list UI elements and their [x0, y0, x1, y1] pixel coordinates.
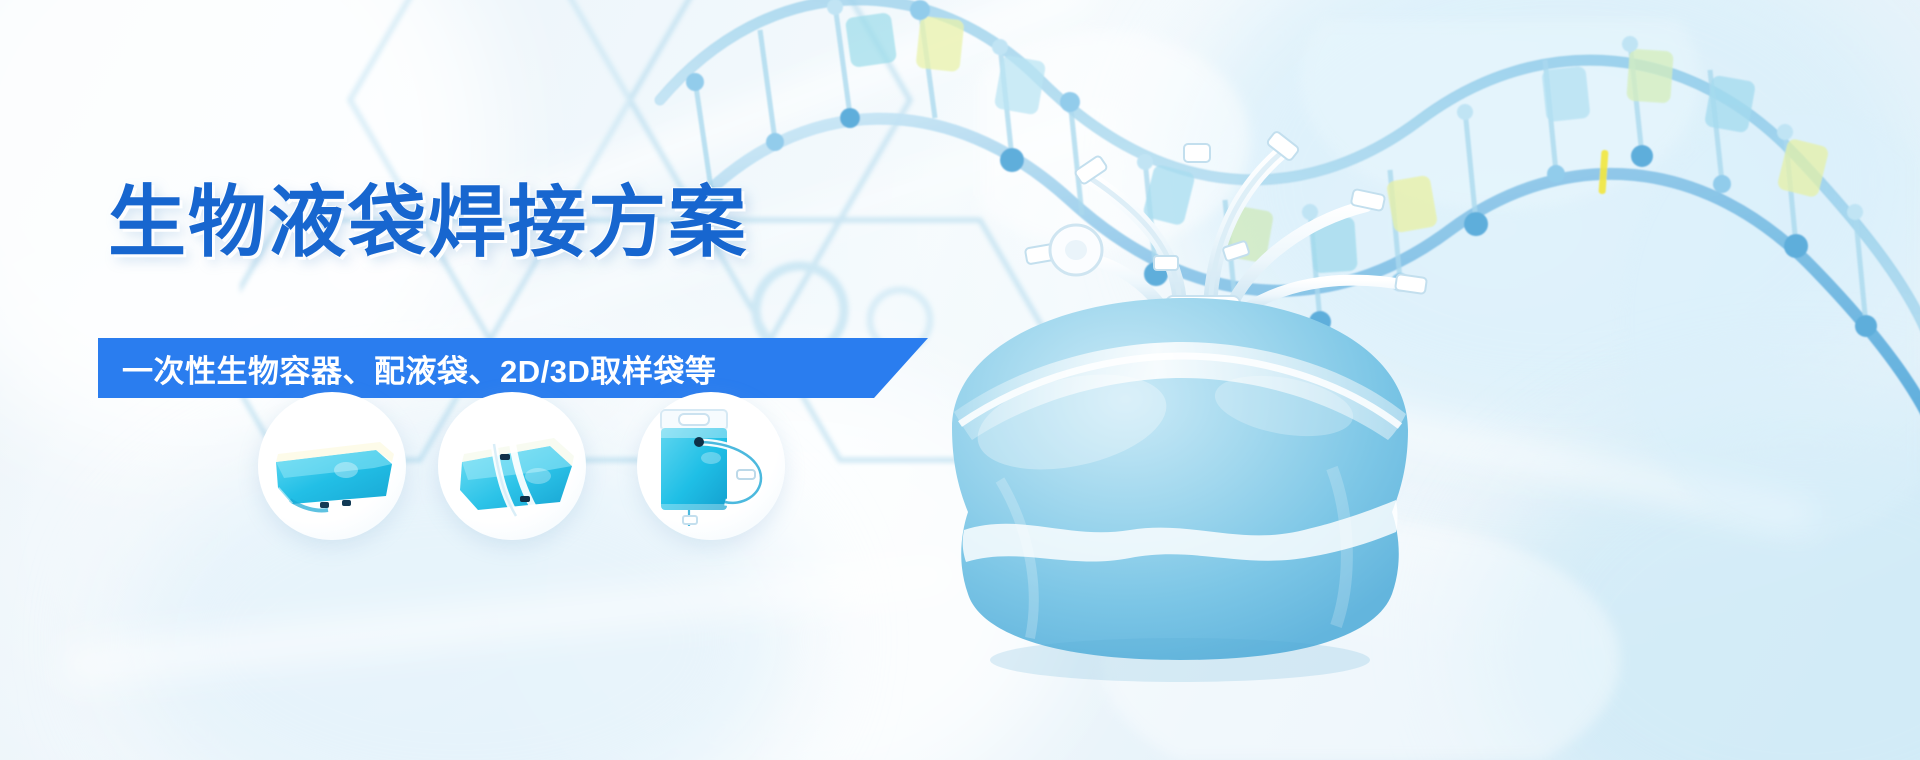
transfer-bag-icon — [637, 392, 785, 540]
single-use-bioreactor-bag-icon — [880, 60, 1580, 700]
promo-banner: 生物液袋焊接方案 一次性生物容器、配液袋、2D/3D取样袋等 — [0, 0, 1920, 760]
product-thumbnail-2[interactable] — [438, 392, 586, 540]
product-thumbnail-3[interactable] — [637, 392, 785, 540]
product-thumbnail-1[interactable] — [258, 392, 406, 540]
sampling-bag-icon — [438, 392, 586, 540]
subtitle-band: 一次性生物容器、配液袋、2D/3D取样袋等 — [98, 338, 928, 398]
page-title: 生物液袋焊接方案 — [108, 183, 748, 261]
fluid-bag-icon — [258, 392, 406, 540]
subtitle-text: 一次性生物容器、配液袋、2D/3D取样袋等 — [122, 346, 716, 391]
